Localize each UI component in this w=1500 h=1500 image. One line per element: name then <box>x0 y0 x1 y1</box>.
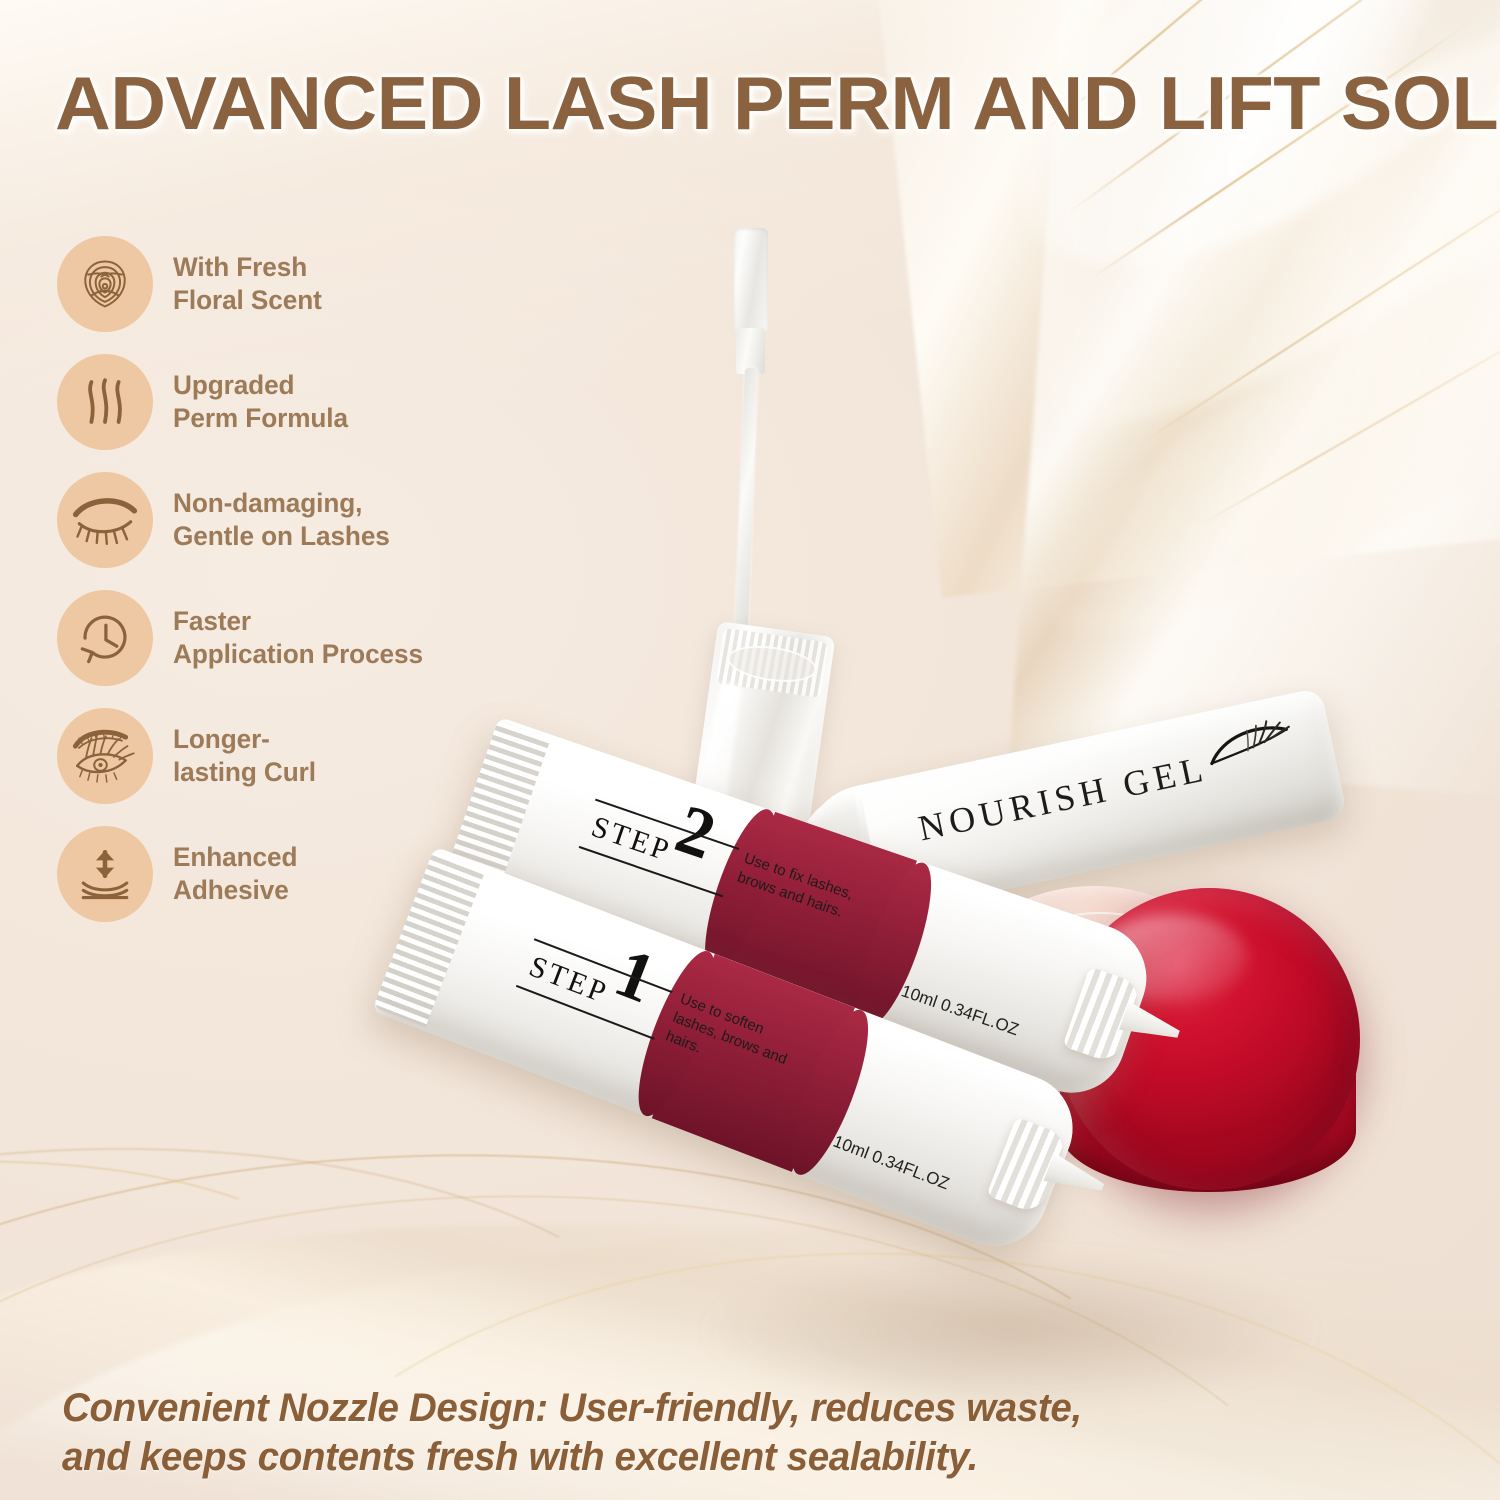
clock-history-icon <box>76 609 134 667</box>
feature-label: Enhanced Adhesive <box>173 841 297 907</box>
feature-label: Faster Application Process <box>173 605 423 671</box>
feature-label-line: Floral Scent <box>173 284 322 317</box>
feature-label: Non-damaging, Gentle on Lashes <box>173 487 390 553</box>
step-2-nozzle-tip <box>1119 1001 1184 1048</box>
feature-label: Longer- lasting Curl <box>173 723 316 789</box>
feature-item-longer-lasting-curl: Longer- lasting Curl <box>57 697 487 815</box>
feature-icon-badge <box>57 354 153 450</box>
feature-label-line: Non-damaging, <box>173 487 390 520</box>
feature-label-line: Longer- <box>173 723 316 756</box>
feature-label: With Fresh Floral Scent <box>173 251 322 317</box>
feature-label-line: Upgraded <box>173 369 348 402</box>
step-2-word: STEP <box>587 810 675 868</box>
steam-waves-icon <box>76 373 134 431</box>
feature-label: Upgraded Perm Formula <box>173 369 348 435</box>
caption-line: and keeps contents fresh with excellent … <box>62 1433 1201 1482</box>
feature-label-line: Faster <box>173 605 423 638</box>
feature-item-faster-application: Faster Application Process <box>57 579 487 697</box>
feature-icon-badge <box>57 590 153 686</box>
rose-icon <box>75 254 135 314</box>
page-title: ADVANCED LASH PERM AND LIFT SOLUTION <box>55 66 1497 141</box>
feature-label-line: Application Process <box>173 638 423 671</box>
feature-label-line: Enhanced <box>173 841 297 874</box>
feature-label-line: Adhesive <box>173 874 297 907</box>
feature-label-line: With Fresh <box>173 251 322 284</box>
feature-label-line: Gentle on Lashes <box>173 520 390 553</box>
feature-icon-badge <box>57 708 153 804</box>
feature-item-perm-formula: Upgraded Perm Formula <box>57 343 487 461</box>
bottom-caption: Convenient Nozzle Design: User-friendly,… <box>62 1384 1201 1482</box>
feature-item-non-damaging: Non-damaging, Gentle on Lashes <box>57 461 487 579</box>
step-1-word: STEP <box>525 950 613 1010</box>
step-1-nozzle-tip <box>1043 1153 1108 1202</box>
feature-icon-badge <box>57 472 153 568</box>
feature-icon-badge <box>57 826 153 922</box>
feature-icon-badge <box>57 236 153 332</box>
adhesive-arrows-icon <box>76 845 134 903</box>
feature-item-floral-scent: With Fresh Floral Scent <box>57 225 487 343</box>
caption-line: Convenient Nozzle Design: User-friendly,… <box>62 1384 1201 1433</box>
feature-item-enhanced-adhesive: Enhanced Adhesive <box>57 815 487 933</box>
product-infographic: ADVANCED LASH PERM AND LIFT SOLUTION NOU… <box>0 0 1500 1500</box>
closed-eye-lashes-icon <box>72 494 138 546</box>
wand-cap <box>734 228 768 332</box>
step-1-volume: 10ml 0.34FL.OZ <box>830 1132 952 1195</box>
curled-lash-eye-icon <box>70 728 140 784</box>
feature-label-line: lasting Curl <box>173 756 316 789</box>
feature-label-line: Perm Formula <box>173 402 348 435</box>
feature-list: With Fresh Floral Scent Upgraded Perm Fo… <box>57 225 487 933</box>
